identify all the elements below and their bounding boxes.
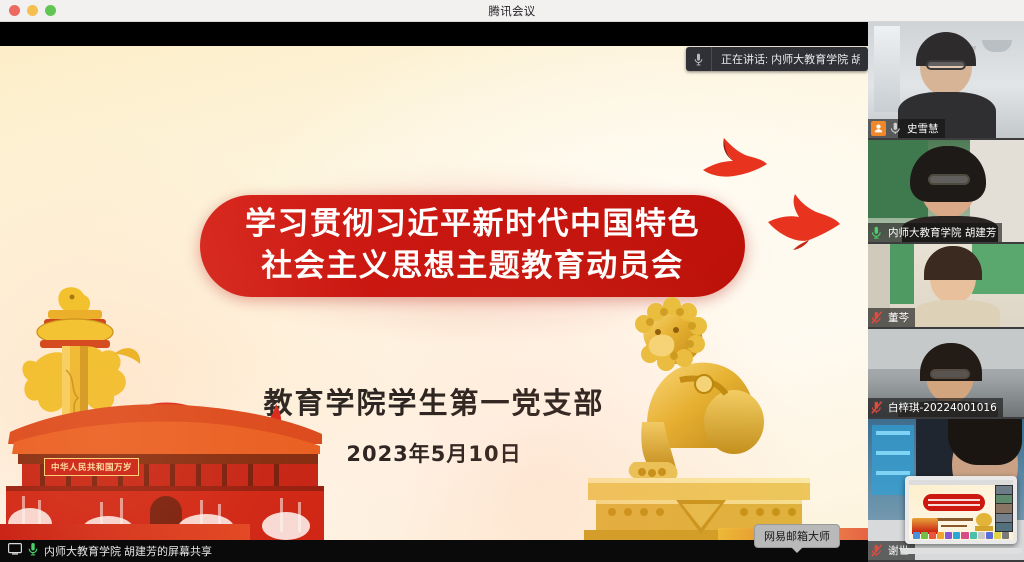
microphone-icon — [28, 542, 38, 561]
microphone-muted-icon — [890, 122, 903, 136]
pip-title-banner — [923, 494, 985, 511]
participant-sidebar[interactable]: 史雪慧 内师大教育学院 胡建芳 — [868, 22, 1024, 562]
pip-lion-shape — [973, 511, 995, 531]
screen-share-icon — [8, 542, 22, 560]
participant-label: 董芩 — [868, 308, 915, 327]
slide-title-line-1: 学习贯彻习近平新时代中国特色 — [245, 204, 700, 246]
microphone-muted-red-icon — [871, 544, 884, 558]
presentation-slide: 学习贯彻习近平新时代中国特色 社会主义思想主题教育动员会 教育学院学生第一党支部… — [0, 46, 868, 540]
participant-tile[interactable]: 董芩 — [868, 244, 1024, 329]
pip-date-line — [941, 525, 967, 527]
participant-tile[interactable]: 内师大教育学院 胡建芳 — [868, 140, 1024, 244]
window-titlebar: 腾讯会议 — [0, 0, 1024, 22]
share-status-bar: 内师大教育学院 胡建芳的屏幕共享 — [0, 540, 868, 562]
meeting-window: 腾讯会议 正在讲话: 内师大教育学院 胡建… — [0, 0, 1024, 562]
participant-name: 内师大教育学院 胡建芳 — [888, 225, 996, 240]
participant-name: 史雪慧 — [907, 121, 939, 136]
pip-slide-preview — [909, 480, 1013, 540]
shared-screen-stage: 正在讲话: 内师大教育学院 胡建… 学习贯彻习近平新时代中国特色 — [0, 22, 868, 562]
share-status-text: 内师大教育学院 胡建芳的屏幕共享 — [44, 543, 212, 559]
participant-name: 董芩 — [888, 310, 909, 325]
participant-tile[interactable]: 白梓琪-20224001016 — [868, 329, 1024, 419]
shared-screen-pip[interactable] — [900, 476, 1022, 554]
participant-label: 白梓琪-20224001016 — [868, 398, 1003, 417]
pip-dock — [913, 532, 1009, 539]
pip-participant-strip — [995, 485, 1013, 532]
pip-screen — [905, 476, 1017, 544]
microphone-icon — [686, 47, 712, 71]
window-title: 腾讯会议 — [0, 3, 1024, 19]
participant-tile[interactable]: 史雪慧 — [868, 22, 1024, 140]
guardian-lion — [584, 272, 814, 540]
participant-label: 史雪慧 — [868, 119, 945, 138]
host-badge — [871, 121, 886, 136]
microphone-muted-red-icon — [871, 311, 884, 325]
participant-name: 白梓琪-20224001016 — [888, 400, 997, 415]
dock-tooltip: 网易邮箱大师 — [754, 524, 840, 548]
active-speaker-label: 正在讲话: 内师大教育学院 胡建… — [712, 51, 860, 67]
pip-subtitle-line — [935, 518, 973, 521]
gate-slogan: 中华人民共和国万岁 — [44, 458, 139, 476]
participant-label: 内师大教育学院 胡建芳 — [868, 223, 1002, 242]
microphone-muted-red-icon — [871, 401, 884, 415]
pip-laptop-base — [900, 548, 1022, 554]
slide-base-strip — [0, 524, 250, 540]
microphone-active-icon — [871, 226, 884, 240]
active-speaker-indicator: 正在讲话: 内师大教育学院 胡建… — [686, 47, 868, 71]
